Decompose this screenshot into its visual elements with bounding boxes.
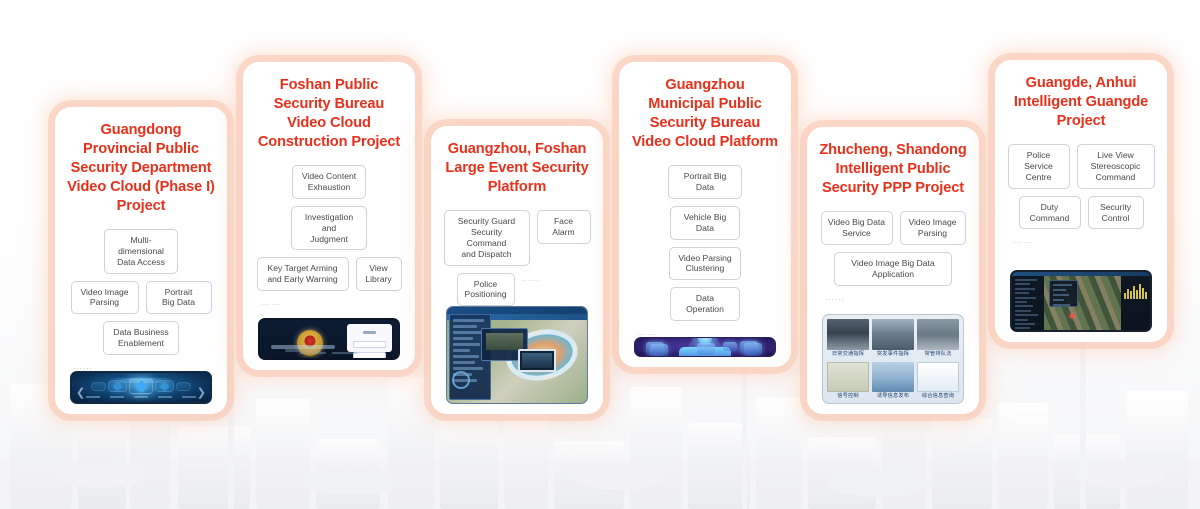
photo-thumbnail bbox=[917, 319, 959, 350]
capability-tag-list: Multi-dimensional Data Access Video Imag… bbox=[67, 229, 215, 355]
capability-tag[interactable]: Video Image Parsing bbox=[900, 211, 966, 245]
project-card-guangde-anhui[interactable]: Guangde, Anhui Intelligent Guangde Proje… bbox=[995, 60, 1167, 342]
login-footer bbox=[260, 350, 398, 355]
photo-caption: 突发事件指挥 bbox=[872, 350, 914, 359]
police-portal-login-screenshot bbox=[258, 318, 400, 360]
capability-tag[interactable]: Video Big Data Service bbox=[821, 211, 893, 245]
capability-tag-list: Portrait Big Data Vehicle Big Data Video… bbox=[631, 165, 779, 321]
satellite-city-command-screenshot bbox=[1010, 270, 1152, 332]
card-title: Guangzhou, Foshan Large Event Security P… bbox=[443, 140, 591, 197]
capability-tag[interactable]: Portrait Big Data bbox=[146, 281, 212, 315]
map-title-bar bbox=[447, 307, 587, 314]
data-node bbox=[697, 343, 715, 355]
capability-tag[interactable]: Data Business Enablement bbox=[103, 321, 179, 355]
data-node bbox=[646, 342, 664, 354]
login-form-title bbox=[363, 331, 376, 334]
photo-thumbnail bbox=[872, 319, 914, 350]
carousel-phone-active bbox=[129, 378, 153, 394]
capability-tag[interactable]: Police Service Centre bbox=[1008, 144, 1070, 189]
capability-tag[interactable]: Key Target Arming and Early Warning bbox=[257, 257, 349, 291]
photo-grid-cell: 诱导信息发布 bbox=[872, 362, 914, 402]
capability-tag[interactable]: Police Positioning bbox=[457, 273, 515, 307]
capability-tag[interactable]: Live View Stereoscopic Command bbox=[1077, 144, 1155, 189]
capability-tag[interactable]: View Library bbox=[356, 257, 402, 291]
capability-tag[interactable]: Investigation and Judgment bbox=[291, 206, 367, 251]
photo-grid-cell: 日常交通指挥 bbox=[827, 319, 869, 359]
carousel-phone bbox=[108, 380, 127, 392]
photo-grid: 日常交通指挥 突发事件指挥 常管排队法 信号控制 bbox=[827, 319, 959, 401]
data-node bbox=[740, 341, 758, 353]
capability-tag[interactable]: Video Image Parsing bbox=[71, 281, 139, 315]
card-title: Foshan Public Security Bureau Video Clou… bbox=[255, 76, 403, 152]
capability-tag[interactable]: Security Control bbox=[1088, 196, 1144, 230]
map-location-pin-icon bbox=[1070, 314, 1074, 318]
photo-thumbnail bbox=[917, 362, 959, 393]
capability-tag-list: Police Service Centre Live View Stereosc… bbox=[1007, 144, 1155, 230]
photo-caption: 常管排队法 bbox=[917, 350, 959, 359]
project-card-guangzhou-municipal[interactable]: Guangzhou Municipal Public Security Bure… bbox=[619, 62, 791, 367]
carousel-phone bbox=[91, 382, 106, 391]
login-form-panel[interactable] bbox=[347, 324, 393, 352]
more-items-ellipsis: …… bbox=[255, 297, 403, 307]
stadium-3d-command-map-screenshot bbox=[446, 306, 588, 404]
carousel-indicator-row bbox=[72, 396, 210, 398]
isometric-data-platform-illustration bbox=[634, 337, 776, 357]
card-title: Guangzhou Municipal Public Security Bure… bbox=[631, 76, 779, 152]
traffic-command-photo-grid-screenshot: 日常交通指挥 突发事件指挥 常管排队法 信号控制 bbox=[822, 314, 964, 404]
card-title: Guangde, Anhui Intelligent Guangde Proje… bbox=[1007, 74, 1155, 131]
more-items-ellipsis: …… bbox=[631, 327, 779, 337]
card-title: Zhucheng, Shandong Intelligent Public Se… bbox=[819, 141, 967, 198]
more-items-ellipsis: …… bbox=[522, 273, 578, 283]
photo-grid-cell: 常管排队法 bbox=[917, 319, 959, 359]
more-items-ellipsis: …… bbox=[1007, 235, 1155, 245]
card-title: Guangdong Provincial Public Security Dep… bbox=[67, 121, 215, 216]
status-gauge-icon bbox=[452, 371, 470, 389]
capability-tag[interactable]: Vehicle Big Data bbox=[670, 206, 740, 240]
video-cloud-phone-carousel-screenshot: ❮ ❯ bbox=[70, 371, 212, 404]
map-detail-popup[interactable] bbox=[1049, 280, 1078, 307]
more-items-ellipsis: …… bbox=[819, 292, 967, 302]
project-card-row: Guangdong Provincial Public Security Dep… bbox=[0, 0, 1200, 509]
photo-thumbnail bbox=[872, 362, 914, 393]
project-card-guangdong-provincial[interactable]: Guangdong Provincial Public Security Dep… bbox=[55, 107, 227, 414]
photo-caption: 信号控制 bbox=[827, 392, 869, 401]
capability-tag[interactable]: Video Image Big Data Application bbox=[834, 252, 952, 286]
phone-carousel bbox=[72, 378, 210, 394]
carousel-phone bbox=[176, 382, 191, 391]
photo-thumbnail bbox=[827, 319, 869, 350]
project-card-guangzhou-foshan-large-event[interactable]: Guangzhou, Foshan Large Event Security P… bbox=[431, 126, 603, 414]
capability-tag[interactable]: Multi-dimensional Data Access bbox=[104, 229, 178, 274]
photo-caption: 日常交通指挥 bbox=[827, 350, 869, 359]
project-card-zhucheng-shandong[interactable]: Zhucheng, Shandong Intelligent Public Se… bbox=[807, 127, 979, 414]
capability-tag[interactable]: Video Content Exhaustion bbox=[292, 165, 366, 199]
username-field[interactable] bbox=[353, 341, 387, 348]
video-feed-overlay[interactable] bbox=[518, 349, 556, 372]
capability-tag[interactable]: Data Operation bbox=[670, 287, 740, 321]
photo-caption: 诱导信息发布 bbox=[872, 392, 914, 401]
project-card-foshan-public-security[interactable]: Foshan Public Security Bureau Video Clou… bbox=[243, 62, 415, 370]
capability-tag[interactable]: Duty Command bbox=[1019, 196, 1081, 230]
capability-tag[interactable]: Portrait Big Data bbox=[668, 165, 742, 199]
more-items-ellipsis: …… bbox=[67, 361, 215, 371]
capability-tag[interactable]: Video Parsing Clustering bbox=[669, 247, 741, 281]
capability-tag-list: Video Big Data Service Video Image Parsi… bbox=[819, 211, 967, 286]
data-node bbox=[723, 342, 737, 351]
capability-tag[interactable]: Security Guard Security Command and Disp… bbox=[444, 210, 530, 266]
photo-grid-cell: 信号控制 bbox=[827, 362, 869, 402]
capability-tag-list: Security Guard Security Command and Disp… bbox=[443, 210, 591, 306]
capability-tag[interactable]: Face Alarm bbox=[537, 210, 591, 244]
photo-grid-cell: 突发事件指挥 bbox=[872, 319, 914, 359]
secondary-dot-mark: . bbox=[255, 308, 403, 318]
right-analytics-panel[interactable] bbox=[1121, 276, 1150, 330]
capability-tag-list: Video Content Exhaustion Investigation a… bbox=[255, 165, 403, 291]
left-data-panel[interactable] bbox=[1012, 276, 1044, 330]
photo-grid-cell: 综合信息查询 bbox=[917, 362, 959, 402]
bar-chart-widget bbox=[1124, 283, 1147, 299]
carousel-phone bbox=[155, 380, 174, 392]
photo-thumbnail bbox=[827, 362, 869, 393]
photo-caption: 综合信息查询 bbox=[917, 392, 959, 401]
